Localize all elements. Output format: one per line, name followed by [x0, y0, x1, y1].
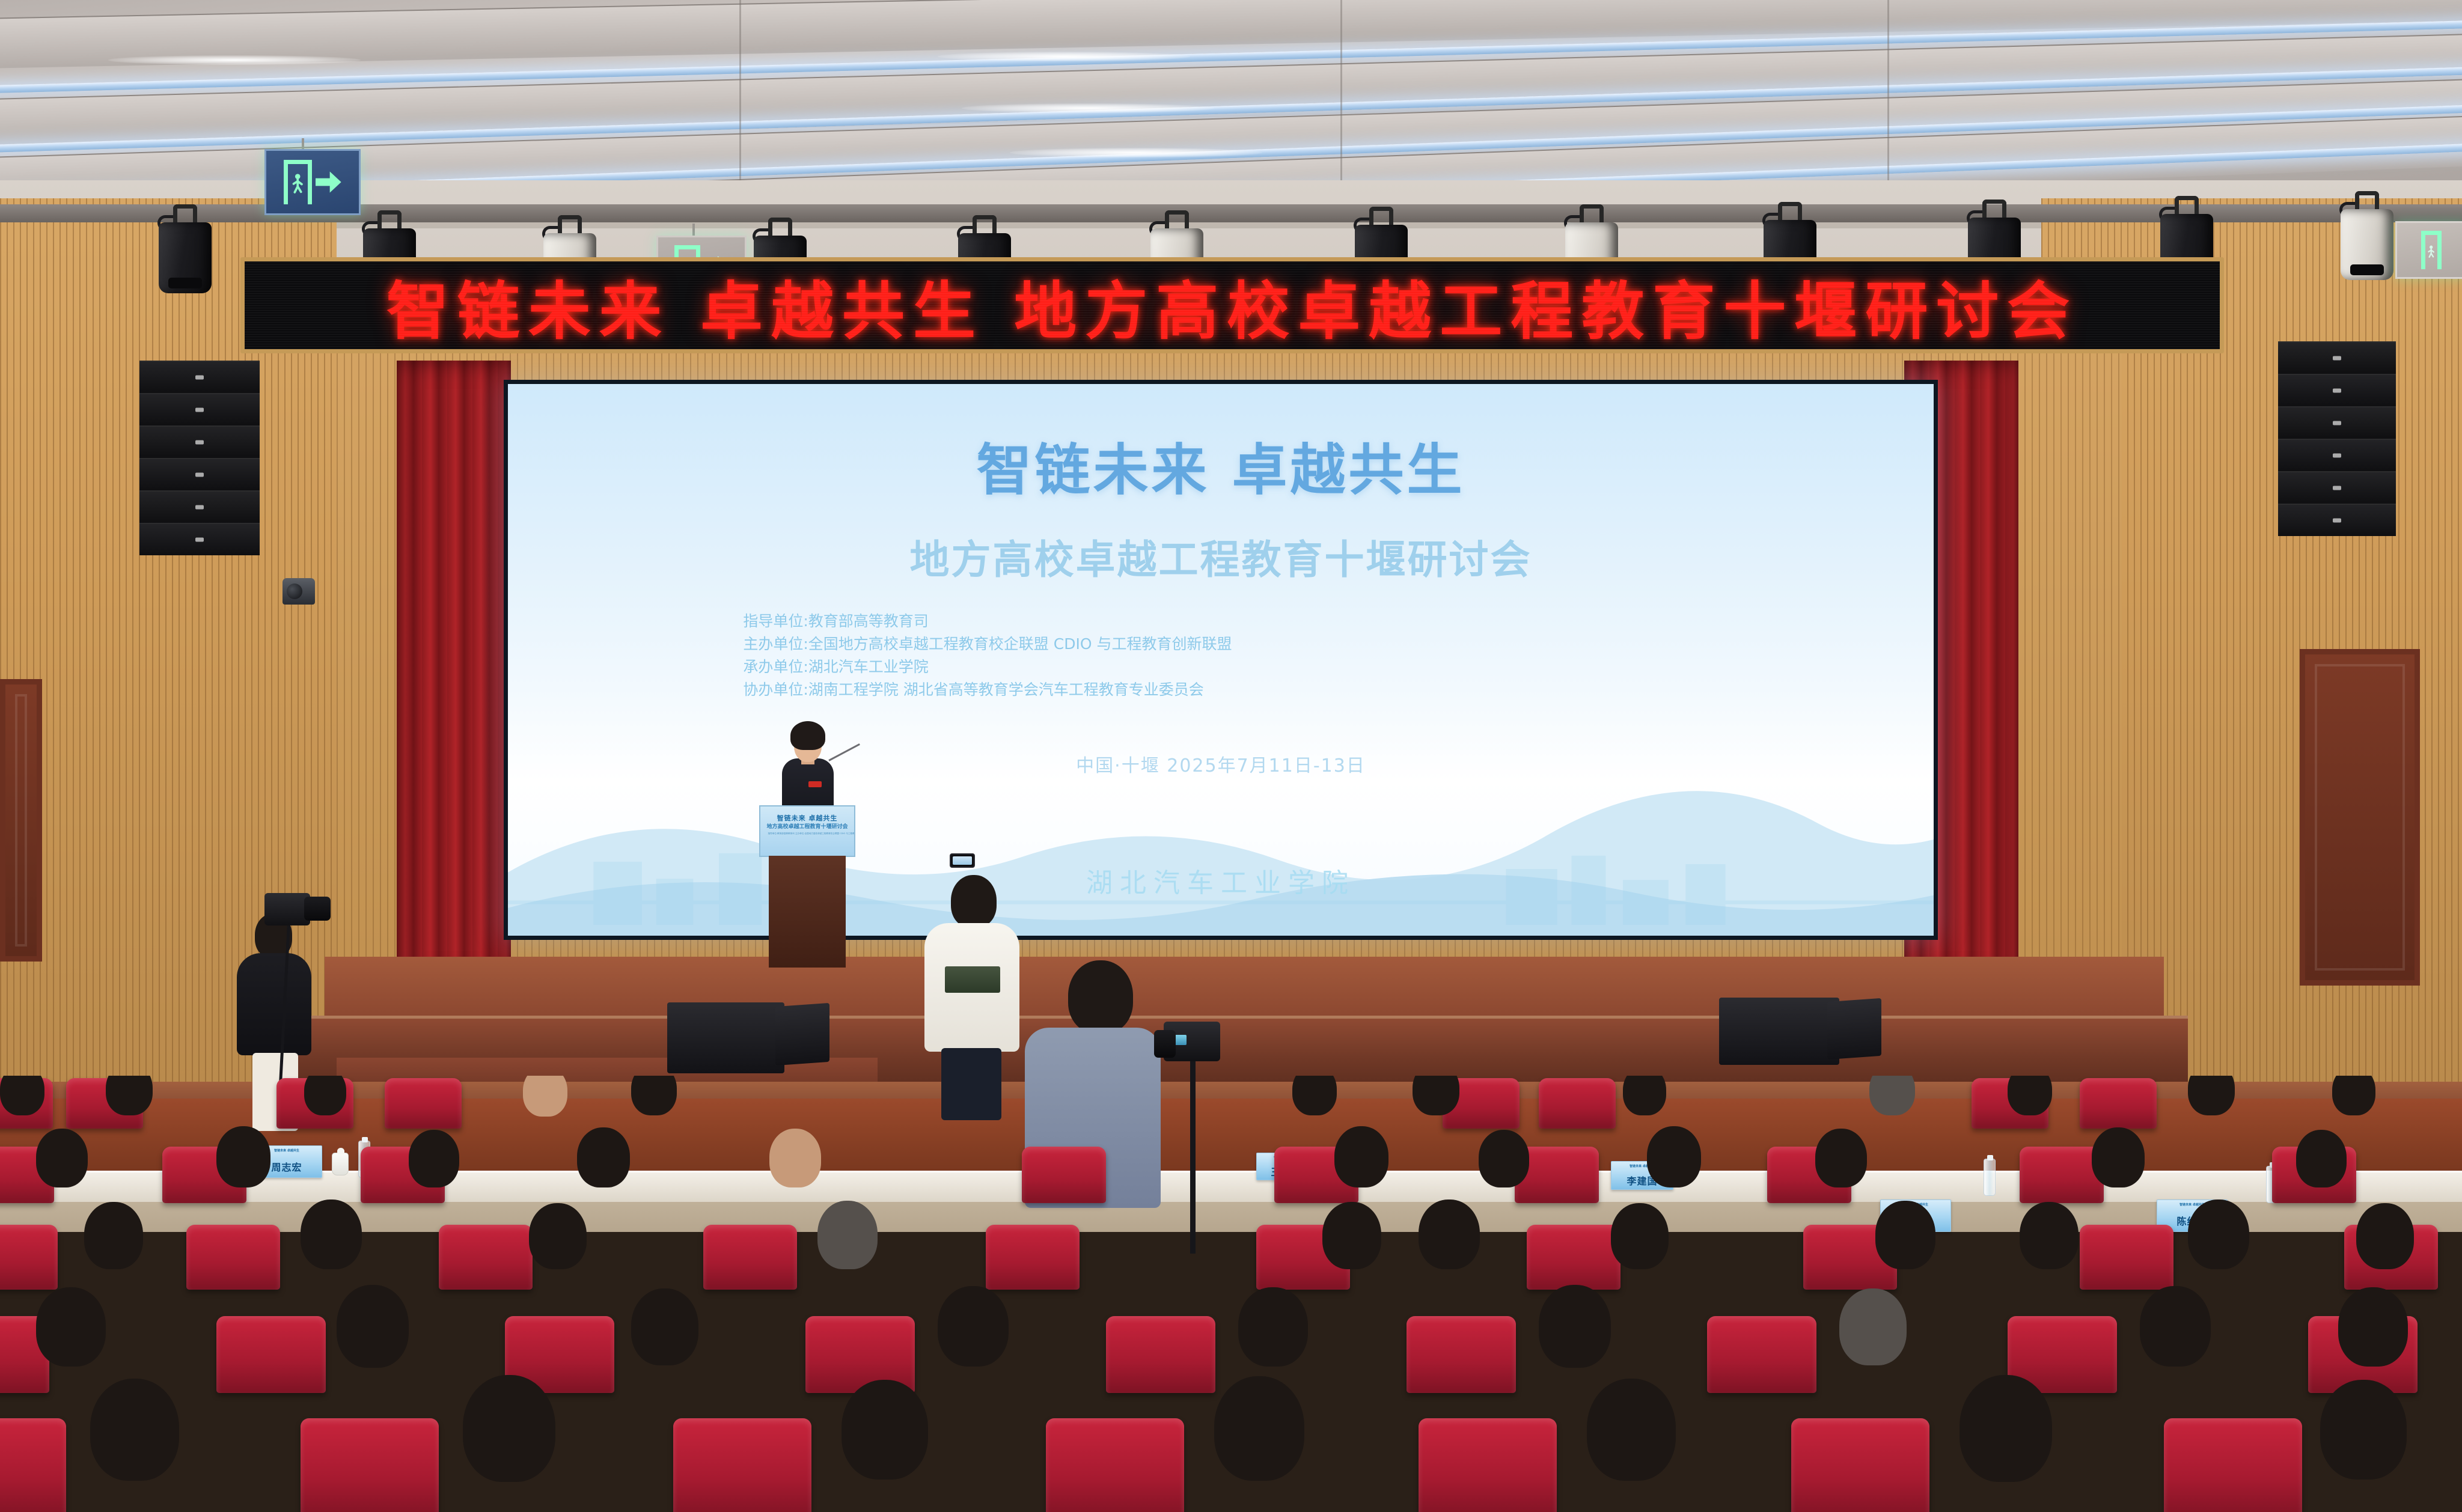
slide-subtitle: 地方高校卓越工程教育十堰研讨会 [508, 528, 1934, 585]
audience-head [409, 1130, 459, 1187]
audience-head [301, 1200, 362, 1269]
exit-door-icon [284, 160, 311, 205]
seat[interactable] [216, 1316, 326, 1393]
audience-head [1611, 1203, 1669, 1269]
audience-head [36, 1287, 106, 1367]
running-man-icon [2427, 237, 2436, 267]
seat[interactable] [2020, 1147, 2104, 1203]
audience-head [1875, 1201, 1935, 1269]
podium-body [769, 856, 846, 968]
audience-head [577, 1127, 630, 1187]
speaker-cabinet [2278, 406, 2396, 439]
seat[interactable] [2080, 1225, 2173, 1290]
camera-lens [304, 897, 331, 921]
audience-head [1869, 1076, 1915, 1115]
seat[interactable] [385, 1078, 462, 1129]
seat[interactable] [703, 1225, 797, 1290]
seat[interactable] [1022, 1147, 1106, 1203]
audience-head [2092, 1127, 2145, 1187]
seat[interactable] [2080, 1078, 2157, 1129]
slide-watermark: 湖北汽车工业学院 [508, 861, 1934, 900]
led-banner-text: 智链未来 卓越共生 地方高校卓越工程教育十堰研讨会 [386, 260, 2078, 351]
ceiling-light-glow [1010, 148, 1262, 157]
speaker-cabinet [2278, 504, 2396, 536]
speaker-array-left [139, 361, 260, 555]
ceiling-light-glow [108, 55, 361, 65]
audience-head [1479, 1130, 1529, 1187]
led-banner: 智链未来 卓越共生 地方高校卓越工程教育十堰研讨会 [240, 257, 2224, 353]
hall-door-left[interactable] [0, 679, 42, 962]
podium-sign-line3: 指导单位:教育部高等教育司 主办单位:全国地方高校卓越工程教育校企联盟 CDIO… [768, 832, 855, 835]
ceiling-light-glow [962, 103, 1214, 113]
audience-head [842, 1380, 928, 1480]
audience-head [631, 1076, 677, 1115]
audience-head [0, 1076, 44, 1115]
slide-org-line: 协办单位:湖南工程学院 湖北省高等教育学会汽车工程教育专业委员会 [743, 678, 1232, 701]
seat[interactable] [439, 1225, 533, 1290]
exit-door-icon [2421, 231, 2442, 270]
stage-light [156, 204, 214, 294]
audience-head [769, 1129, 821, 1187]
stage-monitor-speaker [1719, 998, 1839, 1065]
audience-head [84, 1202, 143, 1269]
exit-sign[interactable] [2395, 221, 2462, 279]
projection-screen-frame: 智链未来 卓越共生 地方高校卓越工程教育十堰研讨会 指导单位:教育部高等教育司 … [504, 380, 1938, 940]
audience-head [337, 1285, 409, 1368]
speaker-cabinet [139, 490, 260, 523]
audience-head [2332, 1076, 2375, 1115]
audience-head [36, 1129, 88, 1187]
seat[interactable] [0, 1418, 66, 1512]
audience-head [304, 1076, 346, 1115]
seat[interactable] [186, 1225, 280, 1290]
crew-head [1068, 960, 1133, 1034]
audience-head [523, 1076, 567, 1117]
slide-date: 中国·十堰 2025年7月11日-13日 [508, 751, 1934, 777]
seat[interactable] [673, 1418, 811, 1512]
audience-head [106, 1076, 153, 1115]
speaker-cabinet [139, 393, 260, 425]
stage-curtain-left [397, 361, 511, 980]
audience-head [2338, 1287, 2408, 1367]
presenter-badge [808, 781, 822, 787]
crew-torso [237, 953, 311, 1055]
stage-monitor-speaker [775, 1003, 829, 1065]
slide-org-line: 主办单位:全国地方高校卓越工程教育校企联盟 CDIO 与工程教育创新联盟 [743, 633, 1232, 656]
tshirt-graphic [945, 966, 1000, 993]
audience-head [1238, 1287, 1308, 1367]
audience-head [1292, 1076, 1337, 1115]
crew-head [951, 875, 997, 928]
speaker-cabinet [2278, 374, 2396, 406]
presenter-hair [790, 721, 825, 750]
seat[interactable] [0, 1225, 58, 1290]
audience-seating [0, 1076, 2462, 1512]
audience-head [2020, 1202, 2079, 1269]
audience-head [938, 1286, 1009, 1367]
slide-org-line: 指导单位:教育部高等教育司 [743, 610, 1232, 633]
audience-head [2140, 1286, 2211, 1367]
seat[interactable] [2164, 1418, 2302, 1512]
seat[interactable] [1527, 1225, 1620, 1290]
audience-head [1623, 1076, 1666, 1115]
exit-arrow-icon [316, 171, 341, 192]
speaker-cabinet [2278, 471, 2396, 504]
audience-head [1334, 1126, 1388, 1187]
audience-head [1815, 1129, 1867, 1187]
seat[interactable] [1046, 1418, 1184, 1512]
speaker-cabinet [139, 361, 260, 393]
audience-head [1960, 1375, 2052, 1482]
exit-sign[interactable] [264, 149, 361, 215]
smartphone[interactable] [950, 853, 975, 868]
podium: 智链未来 卓越共生 地方高校卓越工程教育十堰研讨会 指导单位:教育部高等教育司 … [759, 805, 855, 968]
slide-title: 智链未来 卓越共生 [508, 425, 1934, 505]
seat[interactable] [1539, 1078, 1616, 1129]
audience-head [2188, 1076, 2235, 1115]
slide-org-line: 承办单位:湖北汽车工业学院 [743, 656, 1232, 678]
speaker-cabinet [2278, 341, 2396, 374]
ceiling-light-glow [938, 52, 1190, 61]
speaker-cabinet [139, 425, 260, 458]
speaker-array-right [2278, 341, 2396, 536]
stage-monitor-speaker [1827, 998, 1881, 1059]
seat[interactable] [301, 1418, 439, 1512]
speaker-cabinet [2278, 439, 2396, 471]
audience-head [1413, 1076, 1459, 1115]
audience-head [2356, 1203, 2414, 1269]
speaker-cabinet [139, 458, 260, 490]
ptz-camera [283, 578, 315, 605]
audience-head [631, 1288, 698, 1365]
audience-head [90, 1379, 179, 1481]
podium-sign-line1: 智链未来 卓越共生 [760, 813, 854, 823]
audience-head [1539, 1285, 1611, 1368]
podium-sign: 智链未来 卓越共生 地方高校卓越工程教育十堰研讨会 指导单位:教育部高等教育司 … [759, 805, 855, 857]
audience-head [1587, 1379, 1676, 1481]
audience-head [817, 1201, 878, 1269]
audience-head [2008, 1076, 2052, 1115]
seat[interactable] [1407, 1316, 1516, 1393]
video-camera [264, 893, 310, 925]
audience-head [1647, 1126, 1701, 1187]
slide-organizers: 指导单位:教育部高等教育司 主办单位:全国地方高校卓越工程教育校企联盟 CDIO… [743, 610, 1232, 701]
audience-head [1419, 1200, 1480, 1269]
podium-sign-line2: 地方高校卓越工程教育十堰研讨会 [760, 822, 854, 830]
audience-head [216, 1126, 270, 1187]
seat[interactable] [1791, 1418, 1929, 1512]
seat[interactable] [1419, 1418, 1557, 1512]
audience-head [1214, 1376, 1304, 1481]
running-man-icon [290, 167, 305, 201]
ceiling [0, 0, 2462, 210]
audience-head [463, 1375, 555, 1482]
speaker-cabinet [139, 523, 260, 555]
audience-head [2320, 1380, 2407, 1480]
stage-light [2338, 191, 2396, 281]
stage-floor [325, 957, 2164, 1023]
audience-head [1322, 1202, 1381, 1269]
camera-lens [1154, 1030, 1176, 1058]
conference-hall-photo: 智链未来 卓越共生 地方高校卓越工程教育十堰研讨会 [0, 0, 2462, 1512]
audience-head [2188, 1200, 2249, 1269]
seat[interactable] [1707, 1316, 1816, 1393]
projection-screen: 智链未来 卓越共生 地方高校卓越工程教育十堰研讨会 指导单位:教育部高等教育司 … [508, 384, 1934, 936]
audience-head [1839, 1288, 1907, 1365]
seat[interactable] [1106, 1316, 1215, 1393]
seat[interactable] [986, 1225, 1080, 1290]
stage-monitor-speaker [667, 1002, 784, 1073]
audience-head [2296, 1130, 2347, 1187]
hall-door-right[interactable] [2300, 649, 2420, 986]
audience-head [529, 1203, 587, 1269]
